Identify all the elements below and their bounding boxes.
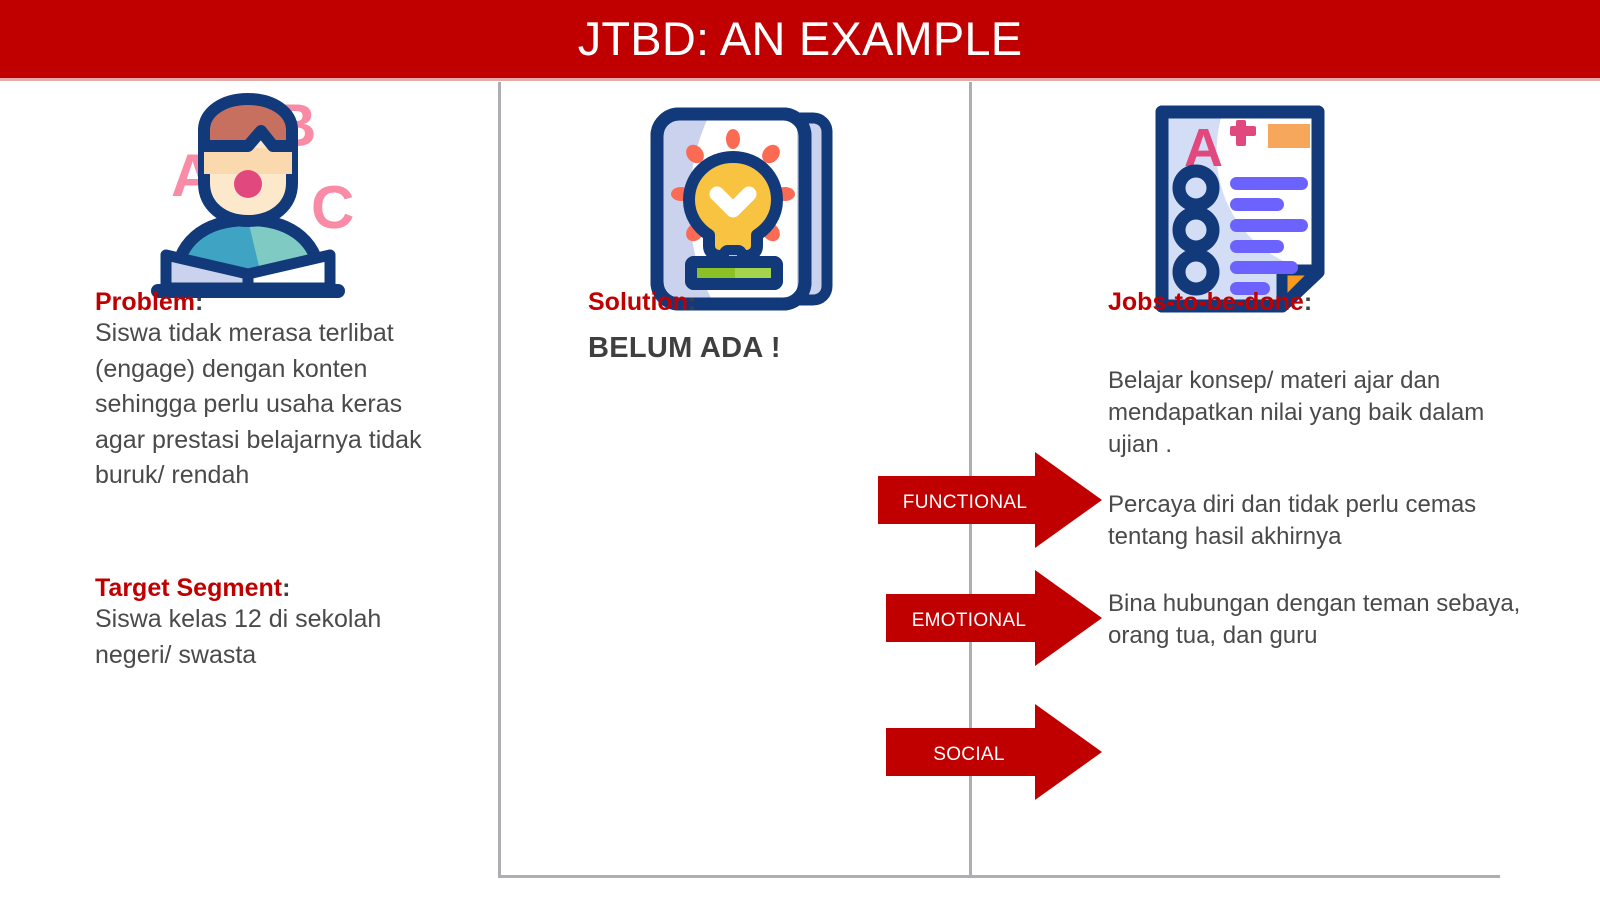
page-title: JTBD: AN EXAMPLE xyxy=(0,0,1600,78)
arrow-functional: FUNCTIONAL xyxy=(878,450,1104,555)
arrow-label-emotional: EMOTIONAL xyxy=(894,610,1044,632)
exam-paper-a-plus-icon: A xyxy=(1152,104,1328,319)
jobs-to-be-done-label: Jobs-to-be-done: xyxy=(1108,288,1588,316)
solution-answer: BELUM ADA ! xyxy=(588,332,948,365)
header-underline xyxy=(0,78,1600,81)
jtbd-item-functional-text: Belajar konsep/ materi ajar dan mendapat… xyxy=(1108,365,1528,461)
target-segment-text: Siswa kelas 12 di sekolah negeri/ swasta xyxy=(95,602,455,673)
column-divider-left xyxy=(498,82,501,878)
svg-text:C: C xyxy=(311,174,354,241)
arrow-label-social: SOCIAL xyxy=(894,744,1044,766)
jtbd-item-social-text: Bina hubungan dengan teman sebaya, orang… xyxy=(1108,588,1528,652)
arrow-label-functional: FUNCTIONAL xyxy=(890,492,1040,514)
book-with-lightbulb-icon xyxy=(645,104,841,319)
bottom-divider xyxy=(498,875,1500,878)
solution-block: Solution: BELUM ADA ! xyxy=(588,288,948,365)
problem-block: Problem: Siswa tidak merasa terlibat (en… xyxy=(95,288,455,494)
arrow-emotional: EMOTIONAL xyxy=(886,568,1104,673)
solution-label: Solution: xyxy=(588,288,948,316)
target-segment-label: Target Segment: xyxy=(95,574,455,602)
arrow-social: SOCIAL xyxy=(886,702,1104,807)
target-segment-block: Target Segment: Siswa kelas 12 di sekola… xyxy=(95,574,455,673)
problem-label: Problem: xyxy=(95,288,455,316)
student-with-book-icon: A B C xyxy=(133,88,363,318)
jtbd-item-emotional-text: Percaya diri dan tidak perlu cemas tenta… xyxy=(1108,489,1528,553)
problem-text: Siswa tidak merasa terlibat (engage) den… xyxy=(95,316,455,494)
